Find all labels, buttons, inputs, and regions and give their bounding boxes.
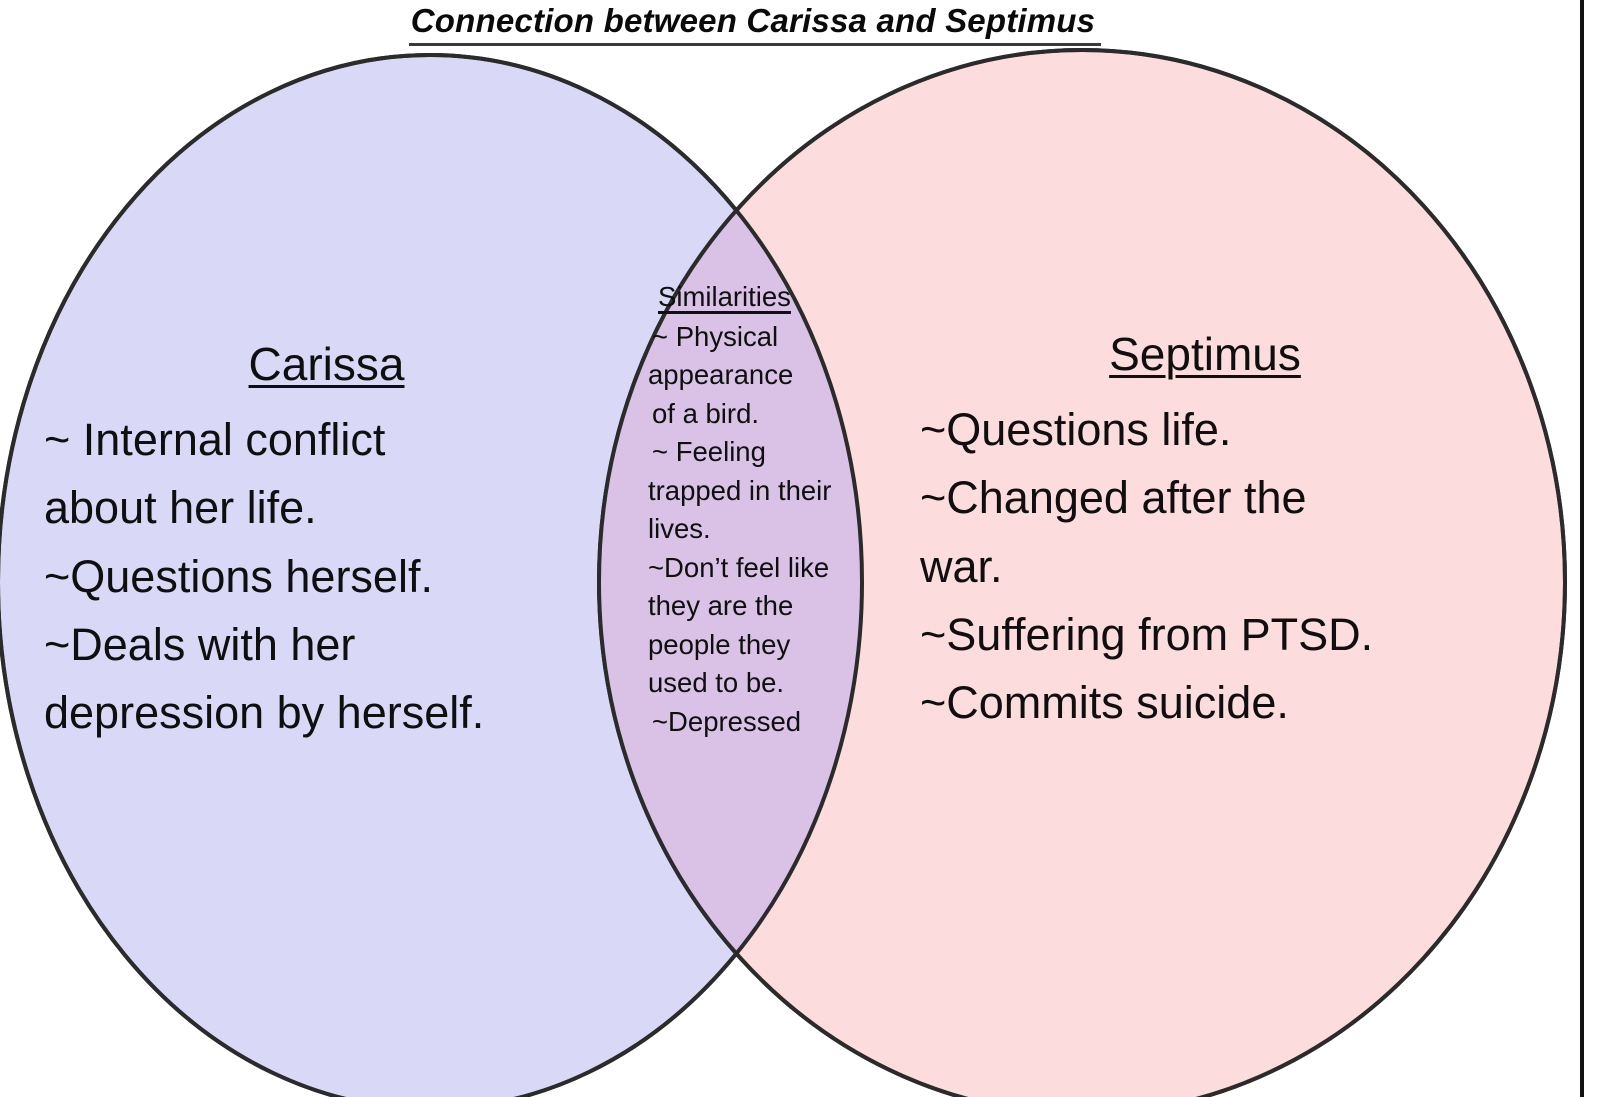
- venn-left-heading: Carissa: [44, 330, 609, 400]
- venn-overlap-line-8: they are the: [648, 587, 910, 626]
- page-title-text: Connection between Carissa and Septimus: [409, 2, 1101, 46]
- venn-overlap-heading: Similarities: [648, 278, 910, 317]
- page-title: Connection between Carissa and Septimus: [0, 2, 1510, 46]
- venn-left-line-3: ~Questions herself.: [44, 543, 609, 611]
- venn-right-line-3: war.: [920, 533, 1490, 601]
- venn-right-line-5: ~Commits suicide.: [920, 669, 1490, 737]
- venn-overlap-line-1: ~ Physical: [648, 318, 910, 357]
- venn-overlap-line-11: ~Depressed: [648, 703, 910, 742]
- venn-left-line-2: about her life.: [44, 474, 609, 542]
- venn-overlap-line-7: ~Don’t feel like: [648, 549, 910, 588]
- venn-overlap-line-3: of a bird.: [648, 395, 910, 434]
- venn-overlap-line-4: ~ Feeling: [648, 433, 910, 472]
- venn-right-line-2: ~Changed after the: [920, 464, 1490, 532]
- venn-overlap-line-2: appearance: [648, 356, 910, 395]
- venn-diagram-canvas: Connection between Carissa and Septimus …: [0, 0, 1600, 1097]
- venn-right-text-block: Septimus ~Questions life. ~Changed after…: [920, 320, 1490, 738]
- venn-overlap-text-block: Similarities ~ Physical appearance of a …: [648, 278, 910, 741]
- venn-overlap-line-5: trapped in their: [648, 472, 910, 511]
- venn-overlap-line-10: used to be.: [648, 664, 910, 703]
- venn-right-line-4: ~Suffering from PTSD.: [920, 601, 1490, 669]
- venn-overlap-line-9: people they: [648, 626, 910, 665]
- venn-right-heading: Septimus: [920, 320, 1490, 390]
- venn-right-line-1: ~Questions life.: [920, 396, 1490, 464]
- venn-left-line-4: ~Deals with her: [44, 611, 609, 679]
- venn-overlap-line-6: lives.: [648, 510, 910, 549]
- venn-left-text-block: Carissa ~ Internal conflict about her li…: [44, 330, 609, 748]
- venn-left-line-5: depression by herself.: [44, 679, 609, 747]
- venn-left-line-1: ~ Internal conflict: [44, 406, 609, 474]
- page-border-line: [1580, 0, 1584, 1097]
